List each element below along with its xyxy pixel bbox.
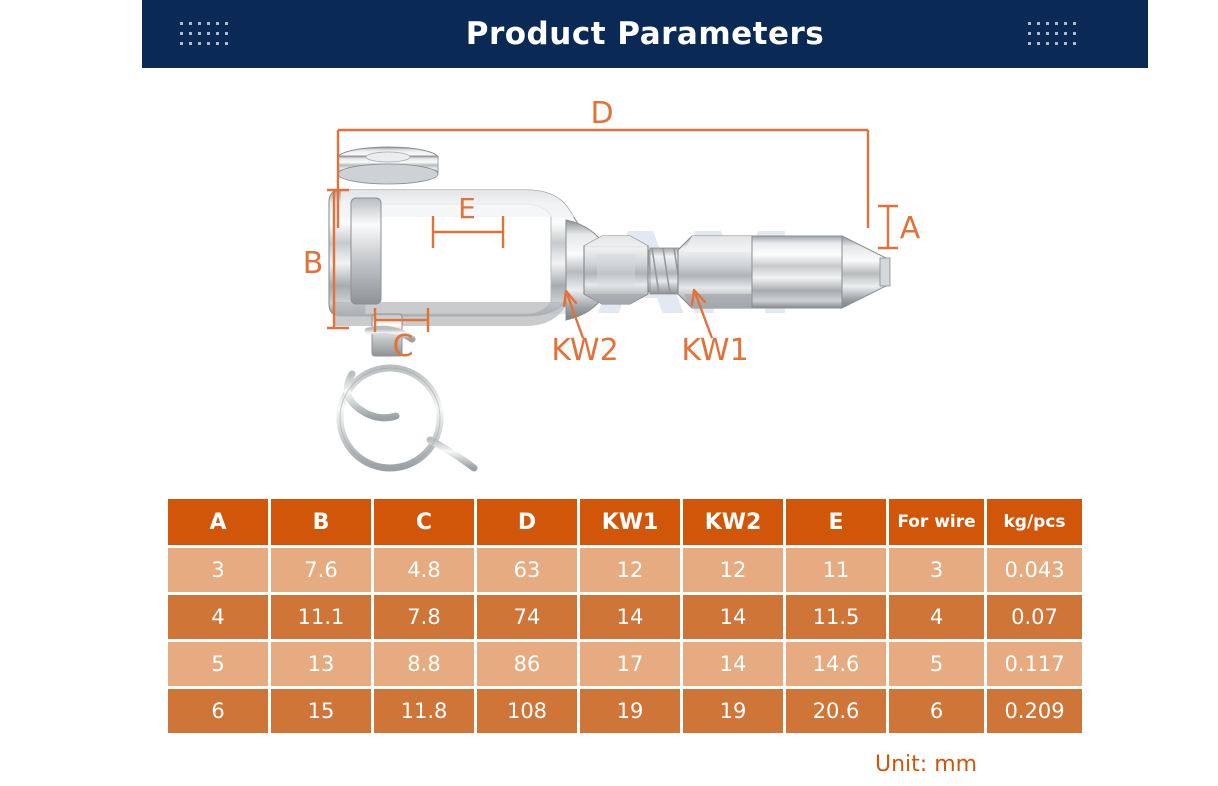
dimension-label-KW2: KW2 bbox=[551, 333, 618, 368]
dot bbox=[225, 32, 228, 35]
cell-kg-pcs: 0.209 bbox=[987, 689, 1082, 733]
dot bbox=[216, 22, 219, 25]
dot bbox=[1073, 42, 1076, 45]
table-header-row: A B C D KW1 KW2 E For wire kg/pcs bbox=[168, 499, 1082, 545]
jaw-pin-barrel bbox=[351, 198, 381, 304]
cell-c: 7.8 bbox=[374, 595, 474, 639]
cell-a: 6 bbox=[168, 689, 268, 733]
cell-e: 14.6 bbox=[786, 642, 886, 686]
dot bbox=[1037, 32, 1040, 35]
cell-kw2: 12 bbox=[683, 548, 783, 592]
cell-b: 7.6 bbox=[271, 548, 371, 592]
cell-a: 3 bbox=[168, 548, 268, 592]
column-header-e: E bbox=[786, 499, 886, 545]
unit-note: Unit: mm bbox=[875, 752, 977, 777]
dimension-label-C: C bbox=[393, 329, 414, 364]
cell-e: 20.6 bbox=[786, 689, 886, 733]
cell-e: 11 bbox=[786, 548, 886, 592]
cell-kg-pcs: 0.07 bbox=[987, 595, 1082, 639]
cell-b: 13 bbox=[271, 642, 371, 686]
terminal-barrel bbox=[752, 236, 842, 308]
cell-c: 8.8 bbox=[374, 642, 474, 686]
page-header-banner: Product Parameters bbox=[142, 0, 1148, 68]
spec-table-container: A B C D KW1 KW2 E For wire kg/pcs 3 7.6 … bbox=[165, 496, 1068, 736]
column-header-d: D bbox=[477, 499, 577, 545]
dot bbox=[189, 42, 192, 45]
cell-a: 4 bbox=[168, 595, 268, 639]
cell-for-wire: 4 bbox=[889, 595, 984, 639]
dot bbox=[1028, 22, 1031, 25]
dot bbox=[216, 42, 219, 45]
cell-c: 11.8 bbox=[374, 689, 474, 733]
column-header-kw2: KW2 bbox=[683, 499, 783, 545]
cell-for-wire: 6 bbox=[889, 689, 984, 733]
cell-kw2: 19 bbox=[683, 689, 783, 733]
dot bbox=[1064, 22, 1067, 25]
page-title: Product Parameters bbox=[466, 16, 824, 52]
dot bbox=[198, 32, 201, 35]
hex-body-kw1 bbox=[678, 236, 890, 308]
dimension-label-D: D bbox=[590, 96, 613, 131]
dot bbox=[1028, 32, 1031, 35]
dot bbox=[1046, 32, 1049, 35]
dot-pattern-left bbox=[180, 22, 230, 47]
dot bbox=[1037, 22, 1040, 25]
dot bbox=[1055, 42, 1058, 45]
dot bbox=[180, 42, 183, 45]
dot bbox=[1073, 32, 1076, 35]
spec-table: A B C D KW1 KW2 E For wire kg/pcs 3 7.6 … bbox=[165, 496, 1085, 736]
cell-kg-pcs: 0.117 bbox=[987, 642, 1082, 686]
dimension-A bbox=[878, 206, 898, 248]
column-header-b: B bbox=[271, 499, 371, 545]
cell-kw2: 14 bbox=[683, 642, 783, 686]
dot bbox=[1037, 42, 1040, 45]
cell-for-wire: 3 bbox=[889, 548, 984, 592]
dot bbox=[207, 32, 210, 35]
dot bbox=[198, 42, 201, 45]
dot bbox=[1046, 22, 1049, 25]
dot bbox=[216, 32, 219, 35]
cell-b: 11.1 bbox=[271, 595, 371, 639]
dot bbox=[189, 32, 192, 35]
dot bbox=[1055, 22, 1058, 25]
column-header-kw1: KW1 bbox=[580, 499, 680, 545]
dimension-label-A: A bbox=[900, 211, 921, 246]
dot bbox=[225, 42, 228, 45]
table-row: 3 7.6 4.8 63 12 12 11 3 0.043 bbox=[168, 548, 1082, 592]
dimension-label-KW1: KW1 bbox=[681, 333, 748, 368]
dot bbox=[207, 42, 210, 45]
dot bbox=[225, 22, 228, 25]
dot bbox=[189, 22, 192, 25]
cell-kg-pcs: 0.043 bbox=[987, 548, 1082, 592]
dot-pattern-right bbox=[1028, 22, 1078, 47]
dot bbox=[180, 22, 183, 25]
dot bbox=[1055, 32, 1058, 35]
cell-kw1: 17 bbox=[580, 642, 680, 686]
dot bbox=[1064, 42, 1067, 45]
column-header-c: C bbox=[374, 499, 474, 545]
dot bbox=[1028, 42, 1031, 45]
cell-a: 5 bbox=[168, 642, 268, 686]
product-diagram: SGAM bbox=[0, 68, 1218, 488]
column-header-a: A bbox=[168, 499, 268, 545]
table-row: 6 15 11.8 108 19 19 20.6 6 0.209 bbox=[168, 689, 1082, 733]
cell-b: 15 bbox=[271, 689, 371, 733]
cell-kw1: 12 bbox=[580, 548, 680, 592]
table-row: 4 11.1 7.8 74 14 14 11.5 4 0.07 bbox=[168, 595, 1082, 639]
dot bbox=[207, 22, 210, 25]
cell-d: 108 bbox=[477, 689, 577, 733]
column-header-kg-pcs: kg/pcs bbox=[987, 499, 1082, 545]
dot bbox=[1046, 42, 1049, 45]
cell-e: 11.5 bbox=[786, 595, 886, 639]
cell-kw1: 19 bbox=[580, 689, 680, 733]
dot bbox=[198, 22, 201, 25]
cell-d: 74 bbox=[477, 595, 577, 639]
dot bbox=[1073, 22, 1076, 25]
cell-c: 4.8 bbox=[374, 548, 474, 592]
cell-for-wire: 5 bbox=[889, 642, 984, 686]
cell-kw1: 14 bbox=[580, 595, 680, 639]
lock-nut-kw2 bbox=[584, 236, 648, 304]
cell-d: 63 bbox=[477, 548, 577, 592]
cell-d: 86 bbox=[477, 642, 577, 686]
cell-kw2: 14 bbox=[683, 595, 783, 639]
dot bbox=[1064, 32, 1067, 35]
dimension-label-E: E bbox=[458, 192, 476, 225]
table-row: 5 13 8.8 86 17 14 14.6 5 0.117 bbox=[168, 642, 1082, 686]
dimension-label-B: B bbox=[303, 246, 324, 281]
dot bbox=[180, 32, 183, 35]
column-header-for-wire: For wire bbox=[889, 499, 984, 545]
